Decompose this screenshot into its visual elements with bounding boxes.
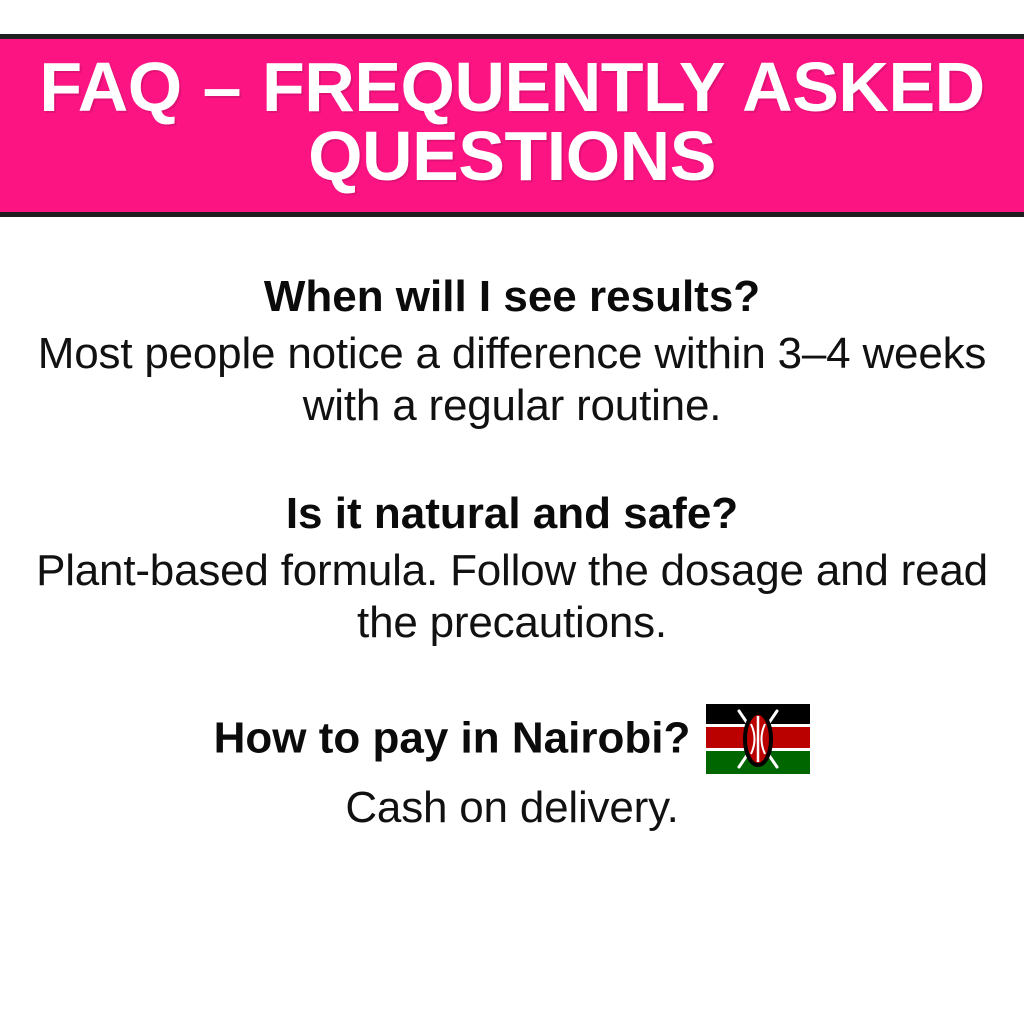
faq-question: Is it natural and safe? xyxy=(0,489,1024,539)
faq-question-row: How to pay in Nairobi? xyxy=(0,706,1024,776)
faq-answer: Cash on delivery. xyxy=(0,782,1024,834)
faq-item: How to pay in Nairobi? xyxy=(0,706,1024,834)
faq-item: Is it natural and safe? Plant-based form… xyxy=(0,489,1024,649)
faq-answer: Plant-based formula. Follow the dosage a… xyxy=(0,545,1024,649)
faq-item: When will I see results? Most people not… xyxy=(0,272,1024,432)
kenya-flag-icon xyxy=(706,704,810,774)
faq-question: When will I see results? xyxy=(0,272,1024,322)
faq-poster: FAQ – FREQUENTLY ASKED QUESTIONS When wi… xyxy=(0,0,1024,1024)
faq-list: When will I see results? Most people not… xyxy=(0,272,1024,834)
faq-header-banner: FAQ – FREQUENTLY ASKED QUESTIONS xyxy=(0,34,1024,217)
banner-title: FAQ – FREQUENTLY ASKED QUESTIONS xyxy=(12,53,1012,192)
faq-answer: Most people notice a difference within 3… xyxy=(0,328,1024,432)
faq-question: How to pay in Nairobi? xyxy=(214,714,691,763)
